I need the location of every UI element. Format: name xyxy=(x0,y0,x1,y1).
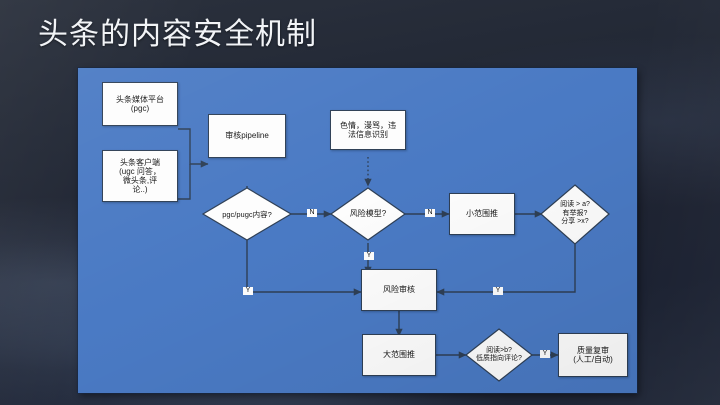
node-risk-review[interactable]: 风险审核 xyxy=(361,269,437,311)
edge-label-read-a-y: Y xyxy=(493,287,503,295)
edge-label-risk-model-n: N xyxy=(425,209,435,217)
slide: 头条的内容安全机制 xyxy=(0,0,720,405)
edge-label-read-b-y: Y xyxy=(540,350,550,358)
node-small-push[interactable]: 小范围推 xyxy=(449,193,515,235)
diagram-panel: 头条媒体平台 (pgc) 头条客户端 (ugc 问答， 微头条,评 论..) 审… xyxy=(78,68,637,393)
decision-read-b xyxy=(466,329,532,381)
decision-read-a xyxy=(541,185,609,244)
node-client[interactable]: 头条客户端 (ugc 问答， 微头条,评 论..) xyxy=(102,150,178,202)
flowchart: 头条媒体平台 (pgc) 头条客户端 (ugc 问答， 微头条,评 论..) 审… xyxy=(78,68,637,393)
node-audit-pipeline[interactable]: 审核pipeline xyxy=(208,114,286,158)
node-quality-review[interactable]: 质量复审 (人工/自动) xyxy=(558,333,628,377)
edge-label-is-pgc-y: Y xyxy=(243,287,253,295)
node-big-push[interactable]: 大范围推 xyxy=(362,334,436,376)
decision-risk-model xyxy=(331,188,405,240)
node-pgc-platform[interactable]: 头条媒体平台 (pgc) xyxy=(102,82,178,126)
edge-label-is-pgc-n: N xyxy=(307,209,317,217)
node-recognition[interactable]: 色情，漫骂，违 法信息识别 xyxy=(330,110,406,150)
decision-is-pgc xyxy=(203,188,291,240)
page-title: 头条的内容安全机制 xyxy=(38,18,317,52)
edge-label-risk-model-y: Y xyxy=(364,252,374,260)
